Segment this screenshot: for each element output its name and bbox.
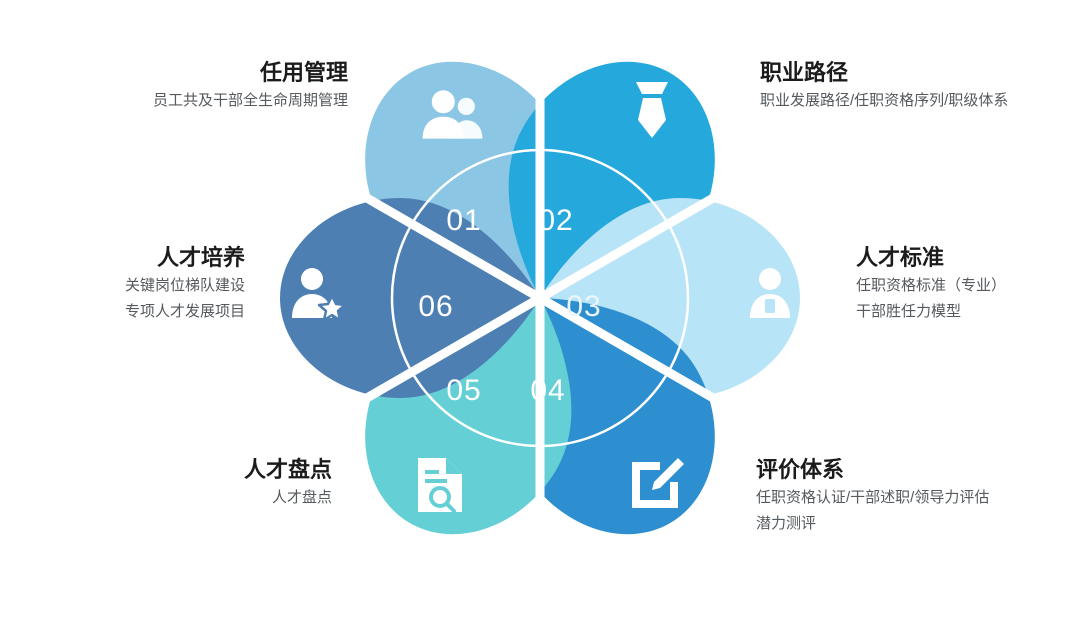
petal-desc-06-line-2: 专项人才发展项目	[0, 299, 245, 325]
petal-label-06[interactable]: 人才培养 关键岗位梯队建设 专项人才发展项目	[0, 243, 245, 325]
petal-desc-03-line-2: 干部胜任力模型	[856, 299, 1081, 325]
petal-title-04: 评价体系	[756, 455, 1081, 485]
petal-desc-03-line-1: 任职资格标准（专业）	[856, 273, 1081, 299]
petal-desc-02-line-1: 职业发展路径/任职资格序列/职级体系	[760, 88, 1081, 114]
petal-label-02[interactable]: 职业路径 职业发展路径/任职资格序列/职级体系	[760, 58, 1081, 114]
petal-desc-01-line-1: 员工共及干部全生命周期管理	[0, 88, 348, 114]
petal-title-06: 人才培养	[0, 243, 245, 273]
petal-number-02: 02	[538, 204, 573, 237]
petal-number-03: 03	[566, 290, 601, 323]
petal-title-05: 人才盘点	[0, 455, 332, 485]
petal-desc-06-line-1: 关键岗位梯队建设	[0, 273, 245, 299]
petal-desc-04-line-1: 任职资格认证/干部述职/领导力评估	[756, 485, 1081, 511]
petal-title-02: 职业路径	[760, 58, 1081, 88]
petal-label-04[interactable]: 评价体系 任职资格认证/干部述职/领导力评估 潜力测评	[756, 455, 1081, 537]
petal-label-03[interactable]: 人才标准 任职资格标准（专业） 干部胜任力模型	[856, 243, 1081, 325]
diagram-canvas: 01 02 03 04 05 06	[0, 0, 1081, 626]
petal-number-04: 04	[530, 374, 565, 407]
petal-number-05: 05	[446, 374, 481, 407]
petal-label-05[interactable]: 人才盘点 人才盘点	[0, 455, 332, 511]
petal-desc-05-line-1: 人才盘点	[0, 485, 332, 511]
petal-desc-04-line-2: 潜力测评	[756, 511, 1081, 537]
petal-number-06: 06	[418, 290, 453, 323]
petal-number-01: 01	[446, 204, 481, 237]
petal-title-01: 任用管理	[0, 58, 348, 88]
petal-title-03: 人才标准	[856, 243, 1081, 273]
edit-square-icon	[632, 458, 684, 508]
petal-label-01[interactable]: 任用管理 员工共及干部全生命周期管理	[0, 58, 348, 114]
